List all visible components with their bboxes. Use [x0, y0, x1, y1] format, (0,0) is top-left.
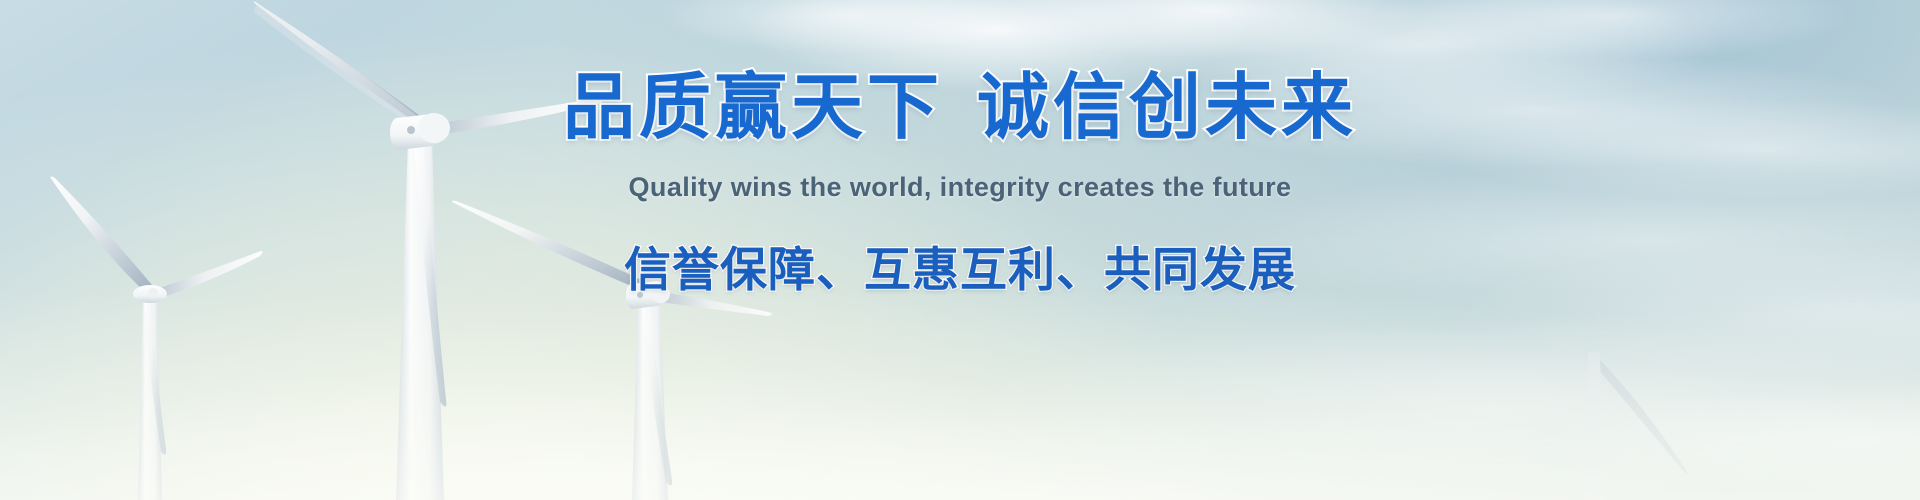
cloud-layer-middle — [0, 0, 1920, 500]
headline-part-2: 诚信创未来 — [977, 68, 1357, 148]
banner-text-stack: 品质赢天下诚信创未来 Quality wins the world, integ… — [0, 0, 1920, 500]
bottom-haze — [0, 0, 1920, 500]
turbine-right — [452, 201, 772, 500]
banner-subtitle: Quality wins the world, integrity create… — [0, 172, 1920, 203]
turbine-distant — [1584, 352, 1688, 500]
hero-banner: 品质赢天下诚信创未来 Quality wins the world, integ… — [0, 0, 1920, 500]
headline-part-1: 品质赢天下 — [563, 68, 943, 148]
cloud-layer-lower — [0, 0, 1920, 500]
wind-turbine-scene — [0, 0, 1920, 500]
turbine-center — [254, 2, 606, 500]
banner-tagline: 信誉保障、互惠互利、共同发展 — [0, 246, 1920, 293]
turbine-left — [51, 176, 263, 500]
banner-headline: 品质赢天下诚信创未来 — [0, 72, 1920, 144]
cloud-layer-upper — [0, 0, 1920, 500]
